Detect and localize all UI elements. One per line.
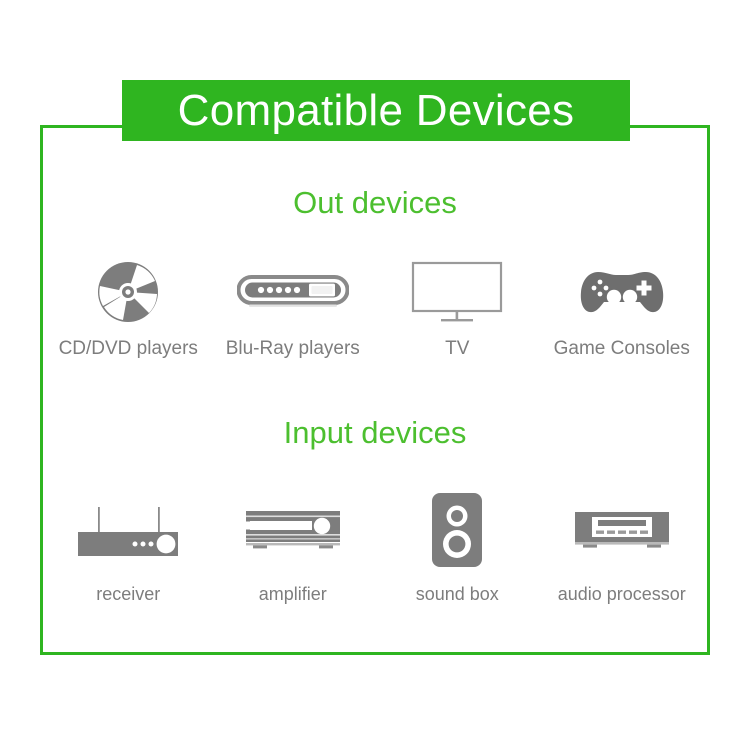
bluray-player-icon	[237, 275, 349, 309]
device-amplifier: amplifier	[213, 492, 373, 605]
icon-box	[411, 257, 503, 327]
section-heading-input-devices: Input devices	[40, 417, 710, 448]
icon-box	[72, 492, 184, 567]
device-label: Game Consoles	[554, 339, 690, 360]
icon-box	[431, 492, 483, 567]
device-label: TV	[445, 339, 469, 360]
device-label: amplifier	[259, 585, 327, 605]
device-bluray-players: Blu-Ray players	[213, 257, 373, 360]
icon-box	[572, 492, 672, 567]
audio-processor-icon	[572, 507, 672, 553]
television-icon	[411, 261, 503, 323]
av-receiver-icon	[72, 499, 184, 561]
section-heading-out-devices: Out devices	[40, 187, 710, 218]
input-devices-row: receiver	[46, 490, 704, 605]
device-cd-dvd-players: CD/DVD players	[48, 257, 208, 360]
device-label: CD/DVD players	[59, 339, 198, 360]
icon-box	[243, 492, 343, 567]
title-banner: Compatible Devices	[122, 80, 630, 141]
page-title: Compatible Devices	[178, 89, 575, 133]
optical-disc-icon	[97, 261, 159, 323]
device-label: sound box	[416, 585, 499, 605]
device-label: receiver	[96, 585, 160, 605]
device-audio-processor: audio processor	[542, 492, 702, 605]
out-devices-row: CD/DVD players	[46, 250, 704, 360]
compatible-devices-infographic: Compatible Devices Out devices	[0, 0, 750, 750]
device-game-consoles: Game Consoles	[542, 257, 702, 360]
device-tv: TV	[377, 257, 537, 360]
icon-box	[237, 257, 349, 327]
amplifier-icon	[243, 507, 343, 553]
device-sound-box: sound box	[377, 492, 537, 605]
device-receiver: receiver	[48, 492, 208, 605]
icon-box	[578, 257, 666, 327]
loudspeaker-icon	[431, 492, 483, 568]
gamepad-icon	[578, 266, 666, 318]
device-label: audio processor	[558, 585, 686, 605]
device-label: Blu-Ray players	[226, 339, 360, 360]
icon-box	[97, 257, 159, 327]
